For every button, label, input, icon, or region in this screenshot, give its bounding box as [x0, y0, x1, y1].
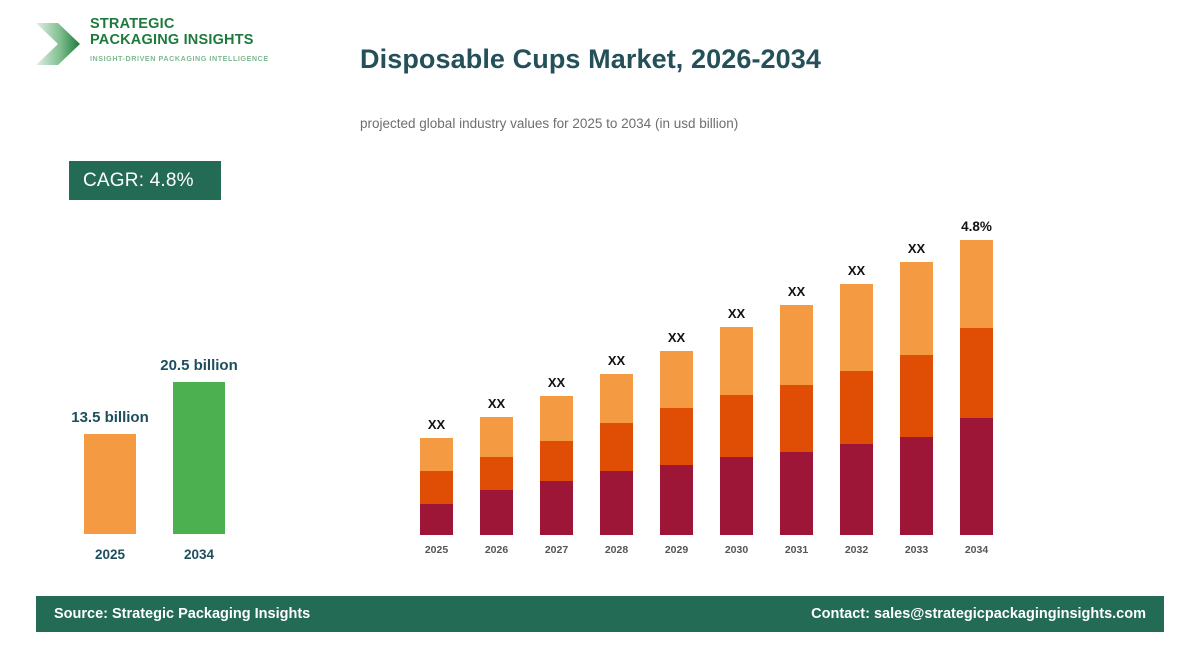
bar-segment-mid-2030 [720, 395, 753, 457]
page-subtitle: projected global industry values for 202… [360, 116, 738, 131]
bar-segment-low-2031 [780, 452, 813, 535]
bar-segment-low-2030 [720, 457, 753, 535]
stacked-bar-2030 [720, 327, 753, 535]
bar-top-label-2034: 4.8% [947, 219, 1007, 234]
bar-top-label-2030: XX [707, 306, 767, 321]
bar-segment-mid-2031 [780, 385, 813, 452]
x-axis-label-2026: 2026 [477, 544, 517, 556]
logo-line-1: STRATEGIC [90, 16, 269, 32]
bar-segment-low-2028 [600, 471, 633, 535]
page-title: Disposable Cups Market, 2026-2034 [360, 44, 821, 75]
stacked-bar-chart: XX2025XX2026XX2027XX2028XX2029XX2030XX20… [400, 190, 1020, 560]
bar-top-label-2031: XX [767, 284, 827, 299]
summary-bar-chart: 13.5 billion 20.5 billion 2025 2034 [60, 300, 280, 570]
footer-source: Source: Strategic Packaging Insights [54, 606, 310, 622]
summary-x-label-2034: 2034 [173, 547, 225, 562]
bar-top-label-2028: XX [587, 353, 647, 368]
bar-top-label-2026: XX [467, 396, 527, 411]
bar-top-label-2032: XX [827, 263, 887, 278]
bar-segment-high-2025 [420, 438, 453, 471]
bar-top-label-2033: XX [887, 241, 947, 256]
bar-segment-high-2026 [480, 417, 513, 457]
bar-segment-high-2029 [660, 351, 693, 408]
bar-segment-mid-2026 [480, 457, 513, 490]
bar-segment-low-2033 [900, 437, 933, 535]
stacked-bar-2027 [540, 396, 573, 535]
x-axis-label-2029: 2029 [657, 544, 697, 556]
bar-segment-mid-2027 [540, 441, 573, 481]
bar-top-label-2029: XX [647, 330, 707, 345]
infographic-page: STRATEGIC PACKAGING INSIGHTS INSIGHT-DRI… [0, 0, 1200, 650]
stacked-bar-2034 [960, 240, 993, 535]
bar-segment-high-2031 [780, 305, 813, 385]
bar-segment-low-2027 [540, 481, 573, 535]
bar-segment-mid-2032 [840, 371, 873, 444]
bar-top-label-2025: XX [407, 417, 467, 432]
bar-segment-high-2028 [600, 374, 633, 423]
logo-tagline: INSIGHT-DRIVEN PACKAGING INTELLIGENCE [90, 54, 269, 63]
bar-segment-mid-2034 [960, 328, 993, 418]
bar-segment-mid-2028 [600, 423, 633, 471]
brand-logo: STRATEGIC PACKAGING INSIGHTS INSIGHT-DRI… [34, 16, 294, 78]
bar-segment-high-2030 [720, 327, 753, 395]
x-axis-label-2032: 2032 [837, 544, 877, 556]
footer-contact: Contact: sales@strategicpackaginginsight… [811, 606, 1146, 622]
bar-segment-low-2026 [480, 490, 513, 535]
bar-segment-high-2033 [900, 262, 933, 355]
stacked-bar-2025 [420, 438, 453, 535]
summary-x-label-2025: 2025 [84, 547, 136, 562]
stacked-bar-2026 [480, 417, 513, 535]
stacked-bar-2033 [900, 262, 933, 535]
bar-segment-low-2034 [960, 418, 993, 535]
bar-segment-high-2032 [840, 284, 873, 371]
stacked-bar-2031 [780, 305, 813, 535]
bar-top-label-2027: XX [527, 375, 587, 390]
x-axis-label-2028: 2028 [597, 544, 637, 556]
x-axis-label-2030: 2030 [717, 544, 757, 556]
footer-bar: Source: Strategic Packaging Insights Con… [36, 596, 1164, 632]
cagr-badge-label: CAGR: 4.8% [83, 170, 194, 192]
stacked-bar-2028 [600, 374, 633, 535]
summary-value-label-2025: 13.5 billion [50, 409, 170, 426]
summary-value-label-2034: 20.5 billion [139, 357, 259, 374]
cagr-badge: CAGR: 4.8% [69, 161, 221, 200]
stacked-bar-2029 [660, 351, 693, 535]
x-axis-label-2027: 2027 [537, 544, 577, 556]
bar-segment-mid-2033 [900, 355, 933, 437]
bar-segment-low-2032 [840, 444, 873, 535]
logo-line-2: PACKAGING INSIGHTS [90, 32, 269, 48]
bar-segment-low-2029 [660, 465, 693, 535]
x-axis-label-2031: 2031 [777, 544, 817, 556]
x-axis-label-2033: 2033 [897, 544, 937, 556]
bar-segment-high-2027 [540, 396, 573, 441]
bar-segment-low-2025 [420, 504, 453, 535]
bar-segment-high-2034 [960, 240, 993, 328]
summary-bar-2034 [173, 382, 225, 534]
x-axis-label-2034: 2034 [957, 544, 997, 556]
stacked-bar-2032 [840, 284, 873, 535]
x-axis-label-2025: 2025 [417, 544, 457, 556]
summary-bar-2025 [84, 434, 136, 534]
bar-segment-mid-2025 [420, 471, 453, 504]
bar-segment-mid-2029 [660, 408, 693, 465]
chevron-arrow-icon [34, 19, 82, 69]
